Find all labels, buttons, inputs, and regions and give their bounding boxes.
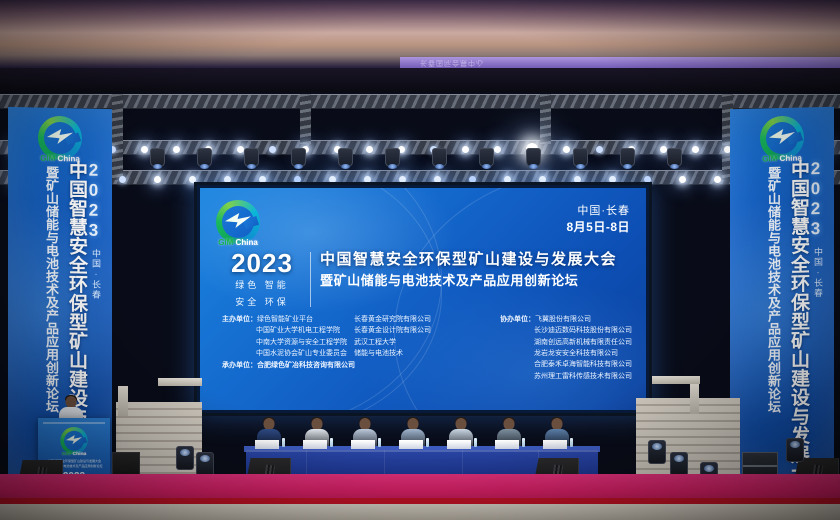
screen-logo: GIM China	[216, 200, 260, 244]
stage-lamp	[269, 146, 276, 153]
screen-titles: 中国智慧安全环保型矿山建设与发展大会 暨矿山储能与电池技术及产品应用创新论坛	[320, 250, 632, 289]
truss-moving-head	[244, 148, 259, 167]
truss-moving-head	[291, 148, 306, 167]
side-banner-right: GIM China 2023 中国·长春 中国智慧安全环保型矿山建设与发展大会 …	[730, 107, 834, 480]
stage-lamp	[660, 146, 667, 153]
truss-post-left	[112, 94, 123, 180]
truss-moving-head	[667, 148, 682, 167]
stage-lamp	[119, 176, 126, 183]
ceiling-strip-text: 长春国际会展中心	[420, 58, 820, 68]
stage-lamp	[154, 176, 161, 183]
truss-moving-head	[385, 148, 400, 167]
banner-logo-right: GIM China	[760, 115, 804, 160]
nameplate	[255, 440, 279, 449]
cohost-label: 协办单位：	[500, 316, 535, 323]
water-bottle	[570, 438, 573, 447]
cohost-column: 协办单位：飞翼股份有限公司 长沙迪迈数码科技股份有限公司 湖南创远高新机械有限责…	[500, 314, 632, 382]
floor-moving-light-1	[176, 446, 194, 470]
led-screen-content: GIM China 中国·长春 8月5日-8日 2023 绿色 智能 安全 环保…	[200, 188, 646, 410]
gim-china-logo-icon: GIM China	[38, 116, 82, 161]
banner-left-city: 中国·长春	[91, 249, 100, 300]
steps-right	[636, 398, 740, 478]
stage-lamp	[462, 146, 469, 153]
truss-moving-head	[432, 148, 447, 167]
host-label: 主办单位：	[222, 316, 257, 323]
stage-lamp	[679, 176, 686, 183]
truss-post-inner-left	[300, 94, 311, 144]
nameplate	[495, 440, 519, 449]
screen-location-block: 中国·长春 8月5日-8日	[566, 204, 630, 235]
screen-organizers: 主办单位：绿色智能矿业平台 中国矿业大学机电工程学院 中南大学资源与安全工程学院…	[222, 314, 632, 382]
host-item: 武汉工程大学	[354, 337, 466, 348]
gim-china-logo-icon: GIM China	[216, 200, 260, 244]
stage-lamp	[366, 146, 373, 153]
screen-year-block: 2023 绿色 智能 安全 环保	[220, 250, 310, 309]
water-bottle	[474, 438, 477, 447]
screen-title-main: 中国智慧安全环保型矿山建设与发展大会	[320, 250, 632, 270]
water-bottle	[378, 438, 381, 447]
screen-date: 8月5日-8日	[566, 219, 630, 235]
balustrade-left-post	[118, 386, 128, 416]
floor-moving-light-4	[670, 452, 688, 476]
screen-title-row: 2023 绿色 智能 安全 环保 中国智慧安全环保型矿山建设与发展大会 暨矿山储…	[220, 250, 632, 309]
conference-stage-photo: 长春国际会展中心 GIM China 2023 中国·长春 中国智慧安全环保型矿…	[0, 0, 840, 520]
banner-right-subtitle: 暨矿山储能与电池技术及产品应用创新论坛	[766, 166, 780, 413]
truss-beam-top	[0, 94, 840, 109]
floor-moving-light-3	[648, 440, 666, 464]
stage-lamp	[173, 146, 180, 153]
stage-lamp	[714, 176, 721, 183]
truss-moving-head	[197, 148, 212, 167]
truss-moving-head	[620, 148, 635, 167]
banner-right-city: 中国·长春	[813, 247, 822, 298]
stage-lamp	[141, 146, 148, 153]
nameplate	[399, 440, 423, 449]
title-divider	[310, 252, 311, 307]
truss-moving-head	[338, 148, 353, 167]
podium-logo: GIM China	[60, 427, 87, 454]
truss-moving-head	[479, 148, 494, 167]
banner-logo-left: GIM China	[38, 116, 82, 161]
screen-year: 2023	[220, 250, 304, 276]
truss-post-inner-right	[540, 94, 551, 144]
stage-lamp	[494, 146, 501, 153]
venue-floor	[0, 504, 840, 520]
nameplate	[351, 440, 375, 449]
cohost-item: 飞翼股份有限公司	[535, 316, 591, 323]
cohost-item: 合肥泰禾卓海智能科技有限公司	[500, 359, 632, 370]
banner-right-title: 中国智慧安全环保型矿山建设与发展大会	[788, 159, 808, 479]
water-bottle	[330, 438, 333, 447]
floor-moving-light-6	[786, 438, 804, 462]
host-item: 绿色智能矿业平台	[257, 316, 313, 323]
water-bottle	[522, 438, 525, 447]
truss-moving-head	[150, 148, 165, 167]
banner-left-subtitle: 暨矿山储能与电池技术及产品应用创新论坛	[44, 166, 58, 413]
balustrade-right-rail	[652, 376, 700, 384]
host-item: 长春黄金设计院有限公司	[354, 325, 466, 336]
host-item: 中国矿业大学机电工程学院	[222, 325, 354, 336]
water-bottle	[282, 438, 285, 447]
cohost-item: 湖南创远高新机械有限责任公司	[500, 337, 632, 348]
screen-slogan-2: 安全 环保	[220, 296, 304, 310]
gim-china-logo-icon: GIM China	[760, 115, 804, 160]
host-item: 中南大学资源与安全工程学院	[222, 337, 354, 348]
host-item: 长春黄金研究院有限公司	[354, 314, 466, 325]
stage-lamp	[596, 146, 603, 153]
host-item: 储能与电池技术	[354, 348, 466, 359]
nameplate	[303, 440, 327, 449]
host-column-1: 主办单位：绿色智能矿业平台 中国矿业大学机电工程学院 中南大学资源与安全工程学院…	[222, 314, 354, 382]
gim-wordmark: GIM China	[218, 238, 258, 247]
screen-title-sub: 暨矿山储能与电池技术及产品应用创新论坛	[320, 272, 632, 290]
cohost-item: 龙岩龙安安全科技有限公司	[500, 348, 632, 359]
truss-moving-head	[526, 148, 541, 167]
nameplate	[543, 440, 567, 449]
nameplate	[447, 440, 471, 449]
balustrade-left-rail	[158, 378, 202, 386]
cohost-item: 苏州理工雷科传感技术有限公司	[500, 371, 632, 382]
water-bottle	[426, 438, 429, 447]
floor-moving-light-2	[196, 452, 214, 476]
main-led-screen: GIM China 中国·长春 8月5日-8日 2023 绿色 智能 安全 环保…	[194, 182, 652, 416]
truss-moving-head	[573, 148, 588, 167]
lamp-row-upper	[0, 142, 840, 156]
gim-china-logo-icon: GIM China	[60, 427, 87, 454]
screen-city: 中国·长春	[566, 204, 630, 219]
balustrade-right-post	[690, 382, 699, 414]
undertaker-label: 承办单位：	[222, 362, 257, 369]
screen-slogan-1: 绿色 智能	[220, 279, 304, 293]
host-column-2: 长春黄金研究院有限公司 长春黄金设计院有限公司 武汉工程大学 储能与电池技术	[354, 314, 466, 382]
host-item: 中国水泥协会矿山专业委员会	[222, 348, 354, 359]
gim-wordmark: GIM China	[62, 451, 87, 457]
undertaker-name: 合肥绿色矿冶科技咨询有限公司	[257, 362, 355, 369]
stage-lamp	[563, 146, 570, 153]
screen-undertaker-line: 承办单位：合肥绿色矿冶科技咨询有限公司	[222, 360, 355, 370]
cohost-item: 长沙迪迈数码科技股份有限公司	[500, 325, 632, 336]
ceiling-shadow	[0, 68, 840, 92]
stage-lamp	[692, 146, 699, 153]
